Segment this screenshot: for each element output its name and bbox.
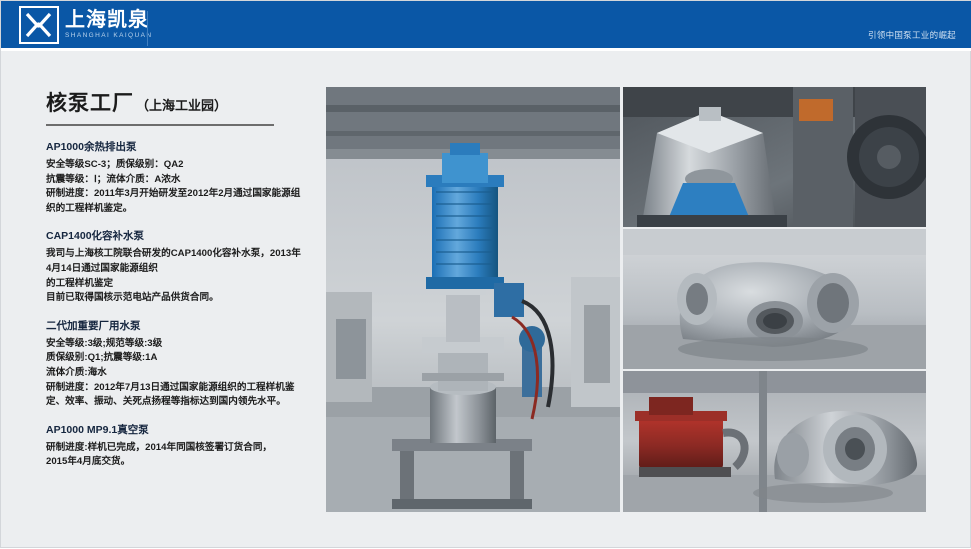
section-line: 流体介质:海水 xyxy=(46,366,311,381)
section-line: 抗震等级：Ⅰ；流体介质：A浓水 xyxy=(46,173,311,188)
photo-collage xyxy=(326,87,926,512)
logo-divider xyxy=(147,11,148,46)
pump-volute-casting-photo xyxy=(623,229,926,369)
section-line: 定、效率、振动、关死点扬程等指标达到国内领先水平。 xyxy=(46,395,311,410)
section-heading: 二代加重要厂用水泵 xyxy=(46,319,311,334)
header-slogan: 引领中国泵工业的崛起 xyxy=(868,29,956,41)
section-heading: CAP1400化容补水泵 xyxy=(46,229,311,244)
logo-text-cn: 上海凯泉 xyxy=(65,10,152,31)
logo-text-en: SHANGHAI KAIQUAN xyxy=(65,31,152,40)
text-column: 核泵工厂 （上海工业园） AP1000余热排出泵 安全等级SC-3；质保级别：Q… xyxy=(46,87,311,483)
section-heading: AP1000 MP9.1真空泵 xyxy=(46,423,311,438)
section-line: 安全等级SC-3；质保级别：QA2 xyxy=(46,158,311,173)
company-logo: 上海凯泉 SHANGHAI KAIQUAN xyxy=(19,5,152,45)
slide-content: 核泵工厂 （上海工业园） AP1000余热排出泵 安全等级SC-3；质保级别：Q… xyxy=(1,51,971,549)
logo-text: 上海凯泉 SHANGHAI KAIQUAN xyxy=(65,10,152,40)
section-line: 安全等级:3级;规范等级:3级 xyxy=(46,337,311,352)
page-title-main: 核泵工厂 xyxy=(46,87,134,117)
section-line: 质保级别:Q1;抗震等级:1A xyxy=(46,351,311,366)
slide-canvas: 上海凯泉 SHANGHAI KAIQUAN 引领中国泵工业的崛起 核泵工厂 （上… xyxy=(0,0,971,548)
section-line: 研制进度：2011年3月开始研发至2012年2月通过国家能源组 xyxy=(46,187,311,202)
section-line: 研制进度：2012年7月13日通过国家能源组织的工程样机鉴 xyxy=(46,381,311,396)
kaiquan-logo-icon xyxy=(19,6,59,44)
section-line: 的工程样机鉴定 xyxy=(46,277,311,292)
section-cap1400-charging: CAP1400化容补水泵 我司与上海核工院联合研发的CAP1400化容补水泵，2… xyxy=(46,229,311,305)
section-line: 4月14日通过国家能源组织 xyxy=(46,262,311,277)
vertical-pump-assembly-photo xyxy=(326,87,620,512)
section-gen2-service-water: 二代加重要厂用水泵 安全等级:3级;规范等级:3级 质保级别:Q1;抗震等级:1… xyxy=(46,319,311,410)
page-title-sub: （上海工业园） xyxy=(136,95,227,114)
section-line: 织的工程样机鉴定。 xyxy=(46,202,311,217)
motor-and-impeller-photo xyxy=(623,371,926,512)
title-underline xyxy=(46,124,274,126)
section-heading: AP1000余热排出泵 xyxy=(46,140,311,155)
section-ap1000-mp91-vacuum: AP1000 MP9.1真空泵 研制进度:样机已完成，2014年同国核签署订货合… xyxy=(46,423,311,470)
section-line: 目前已取得国核示范电站产品供货合同。 xyxy=(46,291,311,306)
pump-casing-machining-photo xyxy=(623,87,926,227)
section-ap1000-rhr: AP1000余热排出泵 安全等级SC-3；质保级别：QA2 抗震等级：Ⅰ；流体介… xyxy=(46,140,311,216)
section-line: 2015年4月底交货。 xyxy=(46,455,311,470)
page-title: 核泵工厂 （上海工业园） xyxy=(46,87,311,123)
section-line: 研制进度:样机已完成，2014年同国核签署订货合同， xyxy=(46,441,311,456)
section-line: 我司与上海核工院联合研发的CAP1400化容补水泵，2013年 xyxy=(46,247,311,262)
